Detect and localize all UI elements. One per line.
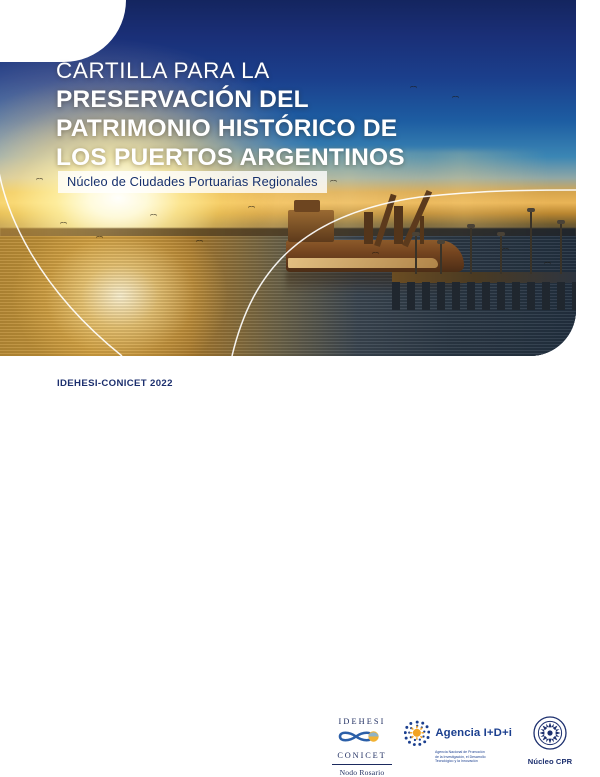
headline-kicker: CARTILLA PARA LA <box>56 58 536 85</box>
idehesi-wordmark: IDEHESI <box>330 718 394 726</box>
infinity-sun-icon <box>336 728 388 745</box>
headline-block: CARTILLA PARA LA PRESERVACIÓN DEL PATRIM… <box>56 58 536 172</box>
headline-line-2: PATRIMONIO HISTÓRICO DE <box>56 114 536 143</box>
subtitle-text: Núcleo de Ciudades Portuarias Regionales <box>58 171 327 193</box>
headline-line-1: PRESERVACIÓN DEL <box>56 85 536 114</box>
logo-idehesi-conicet: IDEHESI CONICET Nodo Rosario <box>330 718 394 777</box>
logo-divider-rule <box>332 764 392 765</box>
credit-text: IDEHESI-CONICET 2022 <box>57 378 173 389</box>
logo-agencia-idi: Agencia I+D+i Agencia Nacional de Promoc… <box>404 720 512 764</box>
footer-bar: IDEHESI-CONICET 2022 IDEHESI CONICET Nod… <box>0 356 600 424</box>
agencia-wordmark: Agencia I+D+i <box>435 728 512 739</box>
logo-nucleo-cpr: Núcleo CPR <box>521 716 579 766</box>
compass-rose-icon <box>533 716 567 750</box>
conicet-wordmark: CONICET <box>330 752 394 760</box>
nucleo-cpr-label: Núcleo CPR <box>521 757 579 766</box>
dotted-circle-sun-icon <box>404 720 430 747</box>
nodo-rosario-label: Nodo Rosario <box>330 768 394 777</box>
cover-photo-panel: CARTILLA PARA LA PRESERVACIÓN DEL PATRIM… <box>0 0 576 356</box>
subtitle-block: Núcleo de Ciudades Portuarias Regionales <box>58 171 327 193</box>
agencia-tagline-line-3: Tecnológico y la Innovación <box>435 759 512 764</box>
headline-line-3: LOS PUERTOS ARGENTINOS <box>56 143 536 172</box>
